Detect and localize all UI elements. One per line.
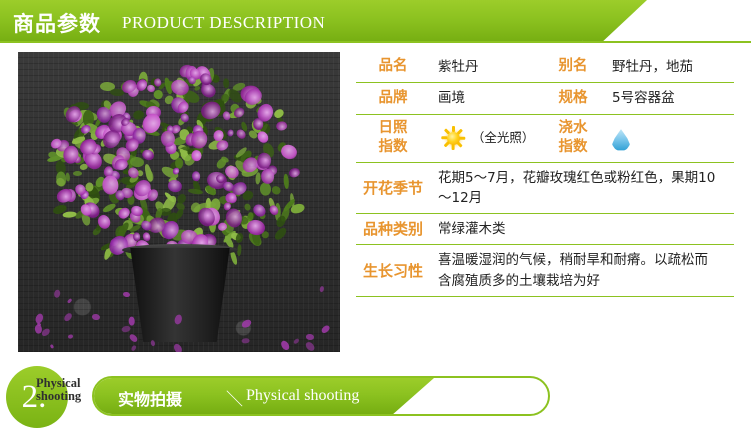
table-row: 日照 指数 （全光照） 浇水 指数 (356, 114, 734, 162)
row-value-growth-habit: 喜温暖湿润的气候，稍耐旱和耐瘠。以疏松而含腐殖质多的土壤栽培为好 (430, 245, 734, 296)
leaf (260, 183, 271, 197)
footer-caption-slash: ＼ (226, 385, 243, 410)
leaf (243, 203, 251, 212)
flower (167, 178, 183, 193)
section-number-caption: Physical shooting (36, 377, 81, 403)
sunlight-label-line2: 指数 (379, 139, 408, 155)
leaf (283, 174, 289, 189)
row-value-flowering-season: 花期5～7月，花瓣玫瑰红色或粉红色，果期10～12月 (430, 163, 734, 214)
fallen-petal (241, 337, 249, 343)
row-label-alias: 别名 (542, 52, 604, 82)
leaf (220, 93, 230, 102)
watering-label-line1: 浇水 (559, 120, 588, 136)
table-row: 品种类别 常绿灌木类 (356, 213, 734, 244)
leaf (255, 172, 261, 185)
page-subtitle: PRODUCT DESCRIPTION (122, 13, 325, 33)
leaf (272, 107, 285, 119)
flower (261, 168, 274, 184)
leaf (222, 78, 229, 88)
flower (101, 175, 118, 195)
page-header: 商品参数 PRODUCT DESCRIPTION (0, 0, 751, 42)
sun-ray (452, 144, 455, 150)
fallen-petal (35, 324, 43, 334)
row-value-watering-index (604, 115, 734, 162)
flower (227, 129, 234, 137)
sunlight-label-line1: 日照 (379, 120, 408, 136)
watering-label-line2: 指数 (559, 139, 588, 155)
sun-ray (457, 129, 463, 135)
fallen-petal (306, 333, 314, 339)
page-title: 商品参数 (13, 8, 101, 38)
table-row: 生长习性 喜温暖湿润的气候，稍耐旱和耐瘠。以疏松而含腐殖质多的土壤栽培为好 (356, 244, 734, 297)
spec-table: 品名 紫牡丹 别名 野牡丹，地茄 品牌 画境 规格 5号容器盆 日照 指数 (356, 52, 734, 297)
sun-ray (444, 141, 450, 147)
footer-caption-en: Physical shooting (246, 387, 359, 405)
sun-ray (459, 137, 465, 140)
row-label-product-name: 品名 (356, 52, 430, 82)
section-footer: 2. Physical shooting 实物拍摄 ＼ Physical sho… (0, 360, 751, 437)
flower (275, 120, 287, 131)
flower (221, 111, 231, 122)
fallen-petal (92, 313, 101, 320)
physical-line1: Physical (36, 376, 80, 390)
sunlight-value-text: （全光照） (472, 129, 534, 148)
physical-line2: shooting (36, 389, 81, 403)
leaf (274, 227, 289, 242)
sun-ray (452, 126, 455, 132)
sun-ray (441, 137, 447, 140)
row-value-brand: 画境 (430, 83, 542, 113)
row-label-brand: 品牌 (356, 83, 430, 113)
water-drop-icon (612, 129, 630, 151)
row-label-flowering-season: 开花季节 (356, 163, 430, 214)
sun-icon (438, 125, 468, 151)
plant-foliage (28, 60, 328, 270)
row-label-variety-type: 品种类别 (356, 214, 430, 244)
row-label-spec: 规格 (542, 83, 604, 113)
leaf (129, 156, 144, 168)
header-underline (0, 41, 751, 43)
row-value-product-name: 紫牡丹 (430, 52, 542, 82)
header-green-slant-small (583, 0, 647, 42)
sun-ray (457, 141, 463, 147)
leaf (235, 232, 245, 243)
fallen-petal (122, 291, 130, 297)
footer-caption-bar: 实物拍摄 ＼ Physical shooting (92, 376, 550, 416)
leaf (270, 184, 282, 196)
table-row: 开花季节 花期5～7月，花瓣玫瑰红色或粉红色，果期10～12月 (356, 162, 734, 214)
footer-caption-cn: 实物拍摄 (118, 386, 182, 410)
row-label-growth-habit: 生长习性 (356, 245, 430, 296)
flower (288, 167, 301, 179)
plant-pot (126, 248, 234, 342)
row-value-variety-type: 常绿灌木类 (430, 214, 734, 244)
product-photo (18, 52, 340, 352)
row-value-sunlight-index: （全光照） (430, 115, 542, 162)
table-row: 品牌 画境 规格 5号容器盆 (356, 82, 734, 113)
leaf (73, 171, 82, 176)
row-label-watering-index: 浇水 指数 (542, 115, 604, 162)
flower (192, 150, 202, 162)
table-row: 品名 紫牡丹 别名 野牡丹，地茄 (356, 52, 734, 82)
flower (191, 171, 200, 182)
row-value-spec: 5号容器盆 (604, 83, 734, 113)
row-label-sunlight-index: 日照 指数 (356, 115, 430, 162)
row-value-alias: 野牡丹，地茄 (604, 52, 734, 82)
